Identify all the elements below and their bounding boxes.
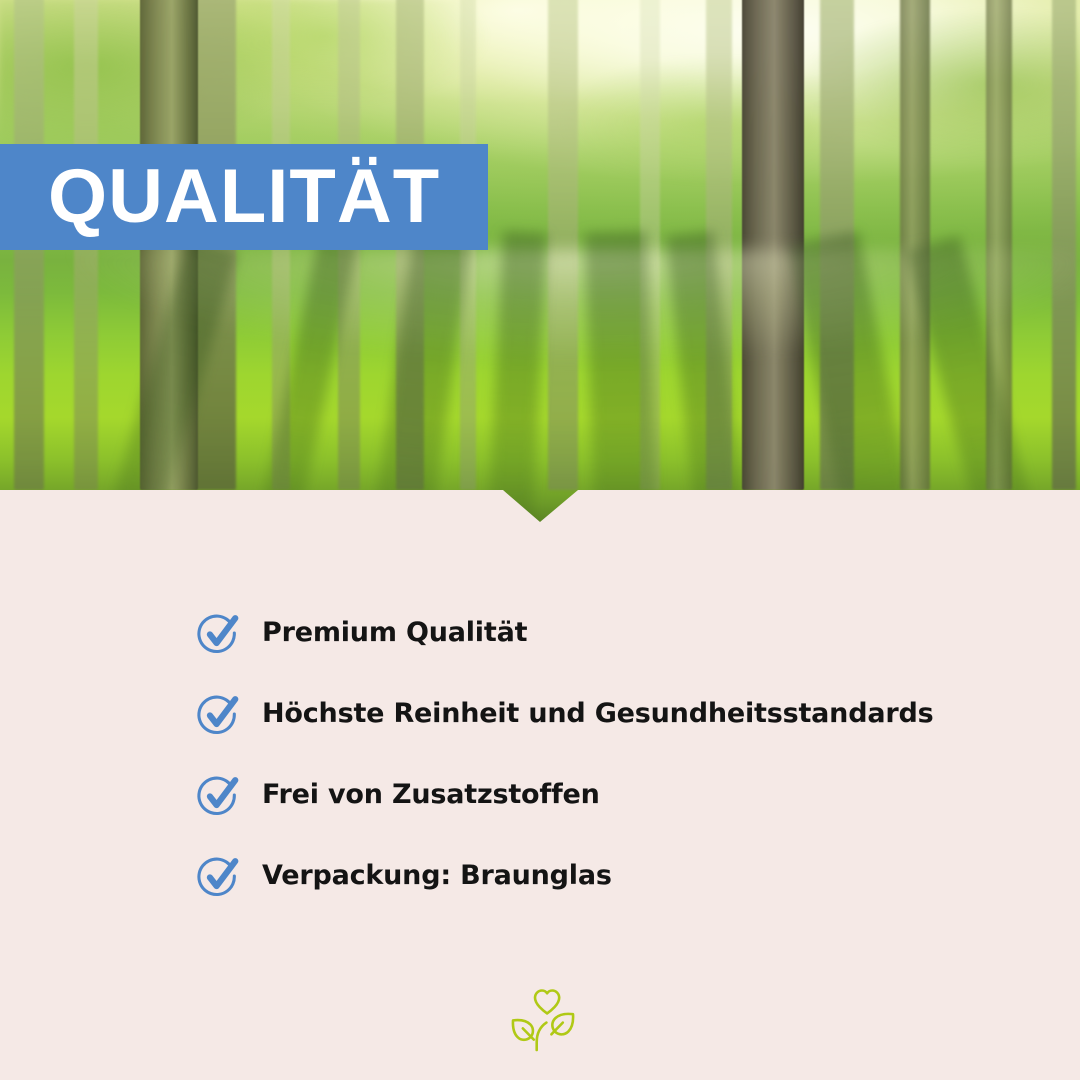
forest-photo [0, 0, 1080, 522]
list-item: Verpackung: Braunglas [196, 835, 1036, 916]
list-item-label: Frei von Zusatzstoffen [262, 779, 600, 810]
tree-trunk [1052, 0, 1076, 490]
qualitaet-banner: QUALITÄT [0, 144, 488, 250]
feature-list: Premium Qualität Höchste Reinheit und Ge… [196, 592, 1036, 916]
banner-title: QUALITÄT [48, 159, 440, 235]
list-item: Höchste Reinheit und Gesundheitsstandard… [196, 673, 1036, 754]
check-circle-icon [196, 772, 242, 818]
check-circle-icon [196, 610, 242, 656]
list-item-label: Höchste Reinheit und Gesundheitsstandard… [262, 698, 933, 729]
tree-trunk [548, 0, 578, 490]
ground-shadow [585, 231, 658, 522]
check-circle-icon [196, 691, 242, 737]
check-circle-icon [196, 853, 242, 899]
heart-plant-icon [505, 980, 581, 1054]
list-item-label: Verpackung: Braunglas [262, 860, 612, 891]
list-item: Frei von Zusatzstoffen [196, 754, 1036, 835]
promo-card: QUALITÄT Premium Qualität Höchste Reinhe… [0, 0, 1080, 1080]
list-item: Premium Qualität [196, 592, 1036, 673]
list-item-label: Premium Qualität [262, 617, 527, 648]
